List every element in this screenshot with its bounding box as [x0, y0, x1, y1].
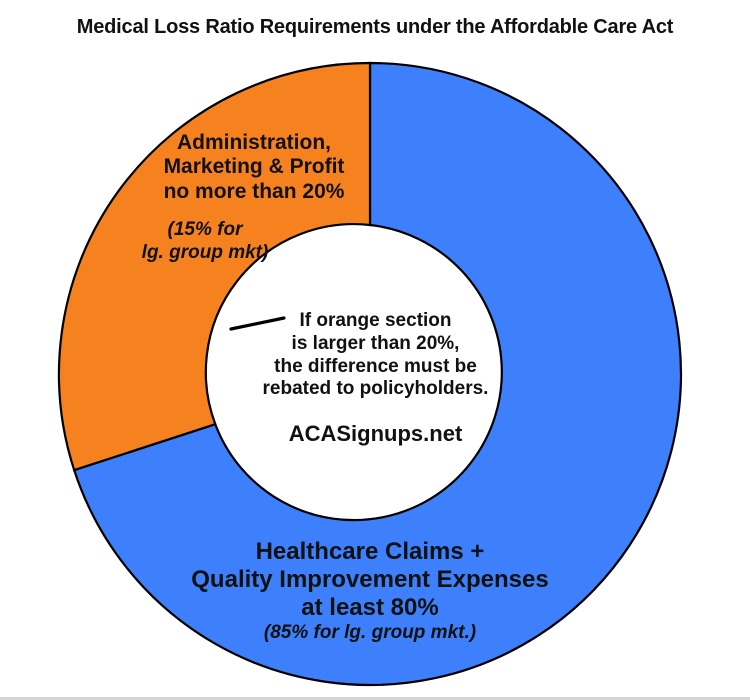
- source-attribution: ACASignups.net: [243, 421, 508, 447]
- blue-slice-label: Healthcare Claims + Quality Improvement …: [150, 538, 590, 622]
- orange-label-line1: Administration,: [128, 131, 380, 155]
- center-note-line1: If orange section: [243, 310, 508, 333]
- donut-chart: Administration, Marketing & Profit no mo…: [0, 0, 750, 700]
- center-note-line4: rebated to policyholders.: [243, 378, 508, 401]
- blue-slice-sublabel: (85% for lg. group mkt.): [150, 622, 590, 644]
- blue-label-line1: Healthcare Claims +: [150, 538, 590, 566]
- orange-label-line3: no more than 20%: [128, 180, 380, 204]
- orange-sublabel-line2: lg. group mkt): [100, 242, 310, 265]
- center-note-line2: is larger than 20%,: [243, 333, 508, 356]
- center-note-line3: the difference must be: [243, 356, 508, 379]
- donut-slice-admin[interactable]: [59, 63, 370, 470]
- blue-label-line3: at least 80%: [150, 594, 590, 622]
- blue-label-line2: Quality Improvement Expenses: [150, 566, 590, 594]
- orange-slice-sublabel: (15% for lg. group mkt): [100, 219, 310, 265]
- center-annotation: If orange section is larger than 20%, th…: [243, 310, 508, 401]
- orange-slice-label: Administration, Marketing & Profit no mo…: [128, 131, 380, 204]
- orange-label-line2: Marketing & Profit: [128, 155, 380, 179]
- orange-sublabel-line1: (15% for: [100, 219, 310, 242]
